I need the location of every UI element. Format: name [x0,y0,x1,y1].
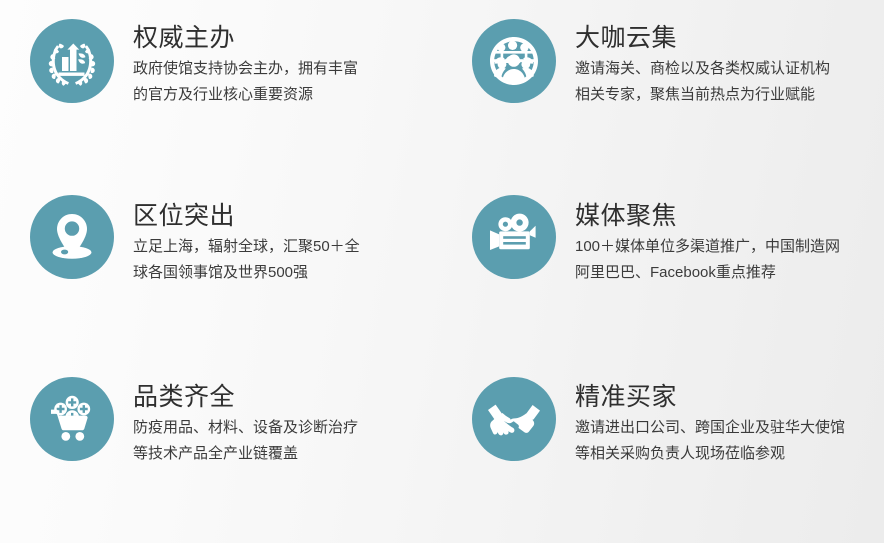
feature-text-block: 精准买家 邀请进出口公司、跨国企业及驻华大使馆 等相关采购负责人现场莅临参观 [575,377,845,467]
feature-description-line: 相关专家，聚焦当前热点为行业赋能 [575,82,830,108]
feature-text-block: 区位突出 立足上海，辐射全球，汇聚50＋全 球各国领事馆及世界500强 [133,195,360,286]
medical-shopping-cart-icon [30,377,114,461]
feature-card-full-category: 品类齐全 防疫用品、材料、设备及诊断治疗 等技术产品全产业链覆盖 [0,362,442,543]
movie-camera-icon [472,195,556,279]
feature-card-precise-buyer: 精准买家 邀请进出口公司、跨国企业及驻华大使馆 等相关采购负责人现场莅临参观 [442,362,884,543]
feature-text-block: 媒体聚焦 100＋媒体单位多渠道推广，中国制造网 阿里巴巴、Facebook重点… [575,195,840,286]
feature-title: 权威主办 [133,23,358,53]
feature-description-line: 立足上海，辐射全球，汇聚50＋全 [133,234,360,260]
feature-description-line: 等技术产品全产业链覆盖 [133,441,358,467]
feature-title: 品类齐全 [133,382,358,412]
feature-description-line: 防疫用品、材料、设备及诊断治疗 [133,415,358,441]
feature-title: 媒体聚焦 [575,201,840,231]
feature-grid: 权威主办 政府使馆支持协会主办，拥有丰富 的官方及行业核心重要资源 [0,0,884,543]
handshake-icon [472,377,556,461]
feature-text-block: 权威主办 政府使馆支持协会主办，拥有丰富 的官方及行业核心重要资源 [133,19,358,108]
feature-card-location-advantage: 区位突出 立足上海，辐射全球，汇聚50＋全 球各国领事馆及世界500强 [0,181,442,362]
feature-description-line: 的官方及行业核心重要资源 [133,82,358,108]
people-group-globe-icon [472,19,556,103]
feature-description-line: 球各国领事馆及世界500强 [133,260,360,286]
feature-description-line: 100＋媒体单位多渠道推广，中国制造网 [575,234,840,260]
feature-title: 大咖云集 [575,23,830,53]
feature-card-media-focus: 媒体聚焦 100＋媒体单位多渠道推广，中国制造网 阿里巴巴、Facebook重点… [442,181,884,362]
feature-card-expert-gathering: 大咖云集 邀请海关、商检以及各类权威认证机构 相关专家，聚焦当前热点为行业赋能 [442,0,884,181]
feature-description-line: 邀请进出口公司、跨国企业及驻华大使馆 [575,415,845,441]
feature-description: 邀请海关、商检以及各类权威认证机构 相关专家，聚焦当前热点为行业赋能 [575,56,830,108]
feature-description-line: 政府使馆支持协会主办，拥有丰富 [133,56,358,82]
laurel-wreath-chart-icon [30,19,114,103]
feature-description-line: 等相关采购负责人现场莅临参观 [575,441,845,467]
feature-text-block: 品类齐全 防疫用品、材料、设备及诊断治疗 等技术产品全产业链覆盖 [133,377,358,467]
feature-description: 邀请进出口公司、跨国企业及驻华大使馆 等相关采购负责人现场莅临参观 [575,415,845,467]
feature-text-block: 大咖云集 邀请海关、商检以及各类权威认证机构 相关专家，聚焦当前热点为行业赋能 [575,19,830,108]
feature-description: 政府使馆支持协会主办，拥有丰富 的官方及行业核心重要资源 [133,56,358,108]
feature-description-line: 阿里巴巴、Facebook重点推荐 [575,260,840,286]
map-pin-location-icon [30,195,114,279]
feature-description: 100＋媒体单位多渠道推广，中国制造网 阿里巴巴、Facebook重点推荐 [575,234,840,286]
feature-title: 区位突出 [133,201,360,231]
feature-description: 防疫用品、材料、设备及诊断治疗 等技术产品全产业链覆盖 [133,415,358,467]
feature-description: 立足上海，辐射全球，汇聚50＋全 球各国领事馆及世界500强 [133,234,360,286]
feature-card-authoritative-host: 权威主办 政府使馆支持协会主办，拥有丰富 的官方及行业核心重要资源 [0,0,442,181]
feature-title: 精准买家 [575,382,845,412]
feature-description-line: 邀请海关、商检以及各类权威认证机构 [575,56,830,82]
